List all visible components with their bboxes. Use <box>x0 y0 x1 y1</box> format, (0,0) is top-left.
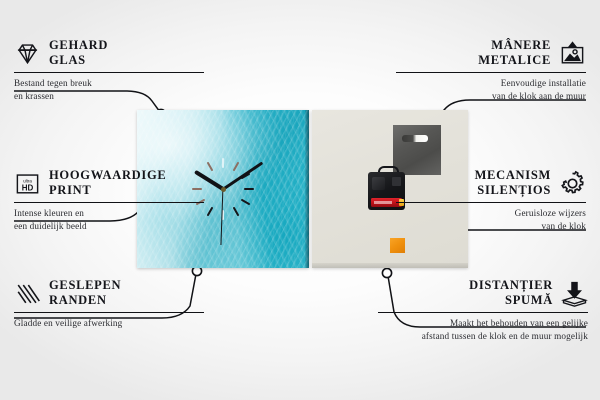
callout-header: ultra HD HOOGWAARDIGE PRINT <box>14 168 204 198</box>
clock-center-hub <box>221 187 226 192</box>
infographic-canvas: GEHARD GLAS Bestand tegen breuk en krass… <box>0 0 600 400</box>
callout-description: Eenvoudige installatie van de klok aan d… <box>396 77 586 102</box>
hanger-slot <box>402 135 428 142</box>
diamond-icon <box>14 40 41 67</box>
gear-icon <box>559 170 586 197</box>
callout-header: DISTANȚIER SPUMĂ <box>378 278 588 308</box>
callout-title: MÂNERE METALICE <box>478 38 551 68</box>
callout-description: Bestand tegen breuk en krassen <box>14 77 204 102</box>
svg-text:HD: HD <box>22 183 34 192</box>
callout-title: MECANISM SILENȚIOS <box>475 168 551 198</box>
callout-description: Intense kleuren en een duidelijk beeld <box>14 207 204 232</box>
callout-rule <box>14 312 204 313</box>
callout-rule <box>396 202 586 203</box>
callout-title: HOOGWAARDIGE PRINT <box>49 168 166 198</box>
callout-manere-metalice: MÂNERE METALICE Eenvoudige installatie v… <box>396 38 586 102</box>
callout-geslepen-randen: GESLEPEN RANDEN Gladde en veilige afwerk… <box>14 278 204 330</box>
leader-dot-distantier-spuma <box>382 268 391 277</box>
ultra-hd-icon: ultra HD <box>14 170 41 197</box>
callout-description: Geruisloze wijzers van de klok <box>396 207 586 232</box>
callout-title: GEHARD GLAS <box>49 38 108 68</box>
diagonal-lines-icon <box>14 280 41 307</box>
callout-title: GESLEPEN RANDEN <box>49 278 121 308</box>
callout-gehard-glas: GEHARD GLAS Bestand tegen breuk en krass… <box>14 38 204 102</box>
callout-header: GEHARD GLAS <box>14 38 204 68</box>
callout-description: Maakt het behouden van een gelijke afsta… <box>378 317 588 342</box>
callout-header: MÂNERE METALICE <box>396 38 586 68</box>
picture-frame-icon <box>559 40 586 67</box>
callout-title: DISTANȚIER SPUMĂ <box>469 278 553 308</box>
callout-header: MECANISM SILENȚIOS <box>396 168 586 198</box>
foam-spacer <box>390 238 405 253</box>
callout-rule <box>378 312 588 313</box>
callout-mecanism-silentios: MECANISM SILENȚIOS Geruisloze wijzers va… <box>396 168 586 232</box>
callout-rule <box>14 202 204 203</box>
callout-hoogwaardige-print: ultra HD HOOGWAARDIGE PRINT Intense kleu… <box>14 168 204 232</box>
callout-description: Gladde en veilige afwerking <box>14 317 204 330</box>
callout-distantier-spuma: DISTANȚIER SPUMĂ Maakt het behouden van … <box>378 278 588 342</box>
callout-rule <box>14 72 204 73</box>
arrow-down-pad-icon <box>561 280 588 307</box>
callout-header: GESLEPEN RANDEN <box>14 278 204 308</box>
callout-rule <box>396 72 586 73</box>
